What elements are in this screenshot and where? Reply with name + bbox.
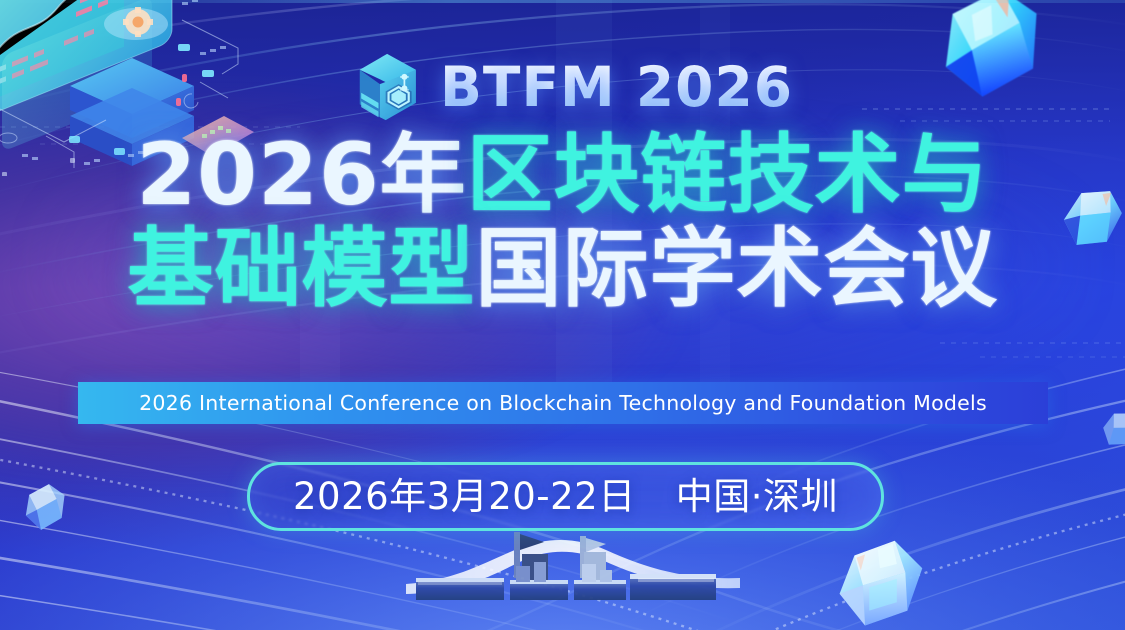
title-line-2: 基础模型国际学术会议	[128, 226, 998, 312]
title-segment: 国际学术会议	[476, 219, 998, 319]
conference-date: 2026年3月20-22日	[293, 478, 636, 515]
conference-location: 中国·深圳	[676, 478, 838, 515]
english-subtitle-bar: 2026 International Conference on Blockch…	[78, 382, 1048, 424]
date-location-pill: 2026年3月20-22日 中国·深圳	[247, 462, 884, 531]
title-line-1: 2026年区块链技术与	[128, 132, 998, 218]
english-subtitle: 2026 International Conference on Blockch…	[139, 391, 987, 415]
logo-lockup: BTFM 2026	[354, 48, 793, 126]
page-title: 2026年区块链技术与 基础模型国际学术会议	[128, 132, 998, 312]
banner-content: BTFM 2026 2026年区块链技术与 基础模型国际学术会议	[0, 0, 1125, 630]
blockchain-hexagon-cube-icon	[354, 48, 426, 126]
title-segment: 2026年	[136, 125, 466, 225]
logo-text: BTFM 2026	[440, 60, 793, 115]
conference-banner: BTFM 2026 2026年区块链技术与 基础模型国际学术会议 2026 In…	[0, 0, 1125, 630]
title-segment: 区块链技术与	[467, 125, 989, 225]
title-segment: 基础模型	[128, 219, 476, 319]
